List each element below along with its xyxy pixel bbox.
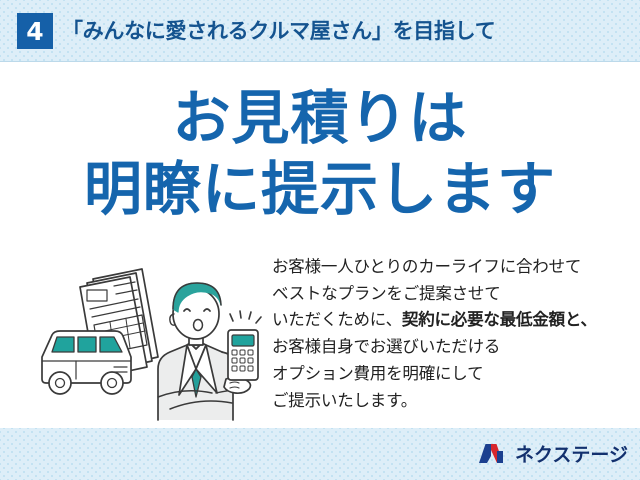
nextage-logo: ネクステージ [478, 440, 628, 467]
page-title: 「みんなに愛されるクルマ屋さん」を目指して [62, 15, 495, 45]
copy-line-5: オプション費用を明確にして [272, 361, 632, 388]
copy-line-2: ベストなプランをご提案させて [272, 281, 632, 308]
copy-line-3-emphasis: 契約に必要な最低金額と、 [402, 310, 597, 329]
headline-line-2: 明瞭に提示します [0, 157, 640, 222]
illustration-svg [30, 257, 270, 422]
nextage-logo-text: ネクステージ [515, 440, 628, 467]
slide-header: 4 「みんなに愛されるクルマ屋さん」を目指して [0, 0, 640, 62]
section-number-badge: 4 [17, 13, 53, 49]
headline: お見積りは 明瞭に提示します [0, 86, 640, 222]
headline-line-1: お見積りは [0, 86, 640, 151]
sparkle-icon [230, 311, 261, 323]
salesman-illustration [30, 257, 270, 422]
calculator-icon [228, 330, 258, 380]
copy-line-6: ご提示いたします。 [272, 388, 632, 415]
copy-line-1: お客様一人ひとりのカーライフに合わせて [272, 254, 632, 281]
content-card: お見積りは 明瞭に提示します [0, 62, 640, 428]
body-copy: お客様一人ひとりのカーライフに合わせて ベストなプランをご提案させて いただくた… [272, 254, 632, 414]
copy-line-3-plain: いただくために、 [272, 310, 402, 329]
slide-root: 4 「みんなに愛されるクルマ屋さん」を目指して お見積りは 明瞭に提示します [0, 0, 640, 480]
nextage-n-mark-icon [478, 442, 508, 466]
copy-line-3: いただくために、契約に必要な最低金額と、 [272, 307, 632, 334]
copy-line-4: お客様自身でお選びいただける [272, 334, 632, 361]
minivan-icon [42, 331, 131, 394]
